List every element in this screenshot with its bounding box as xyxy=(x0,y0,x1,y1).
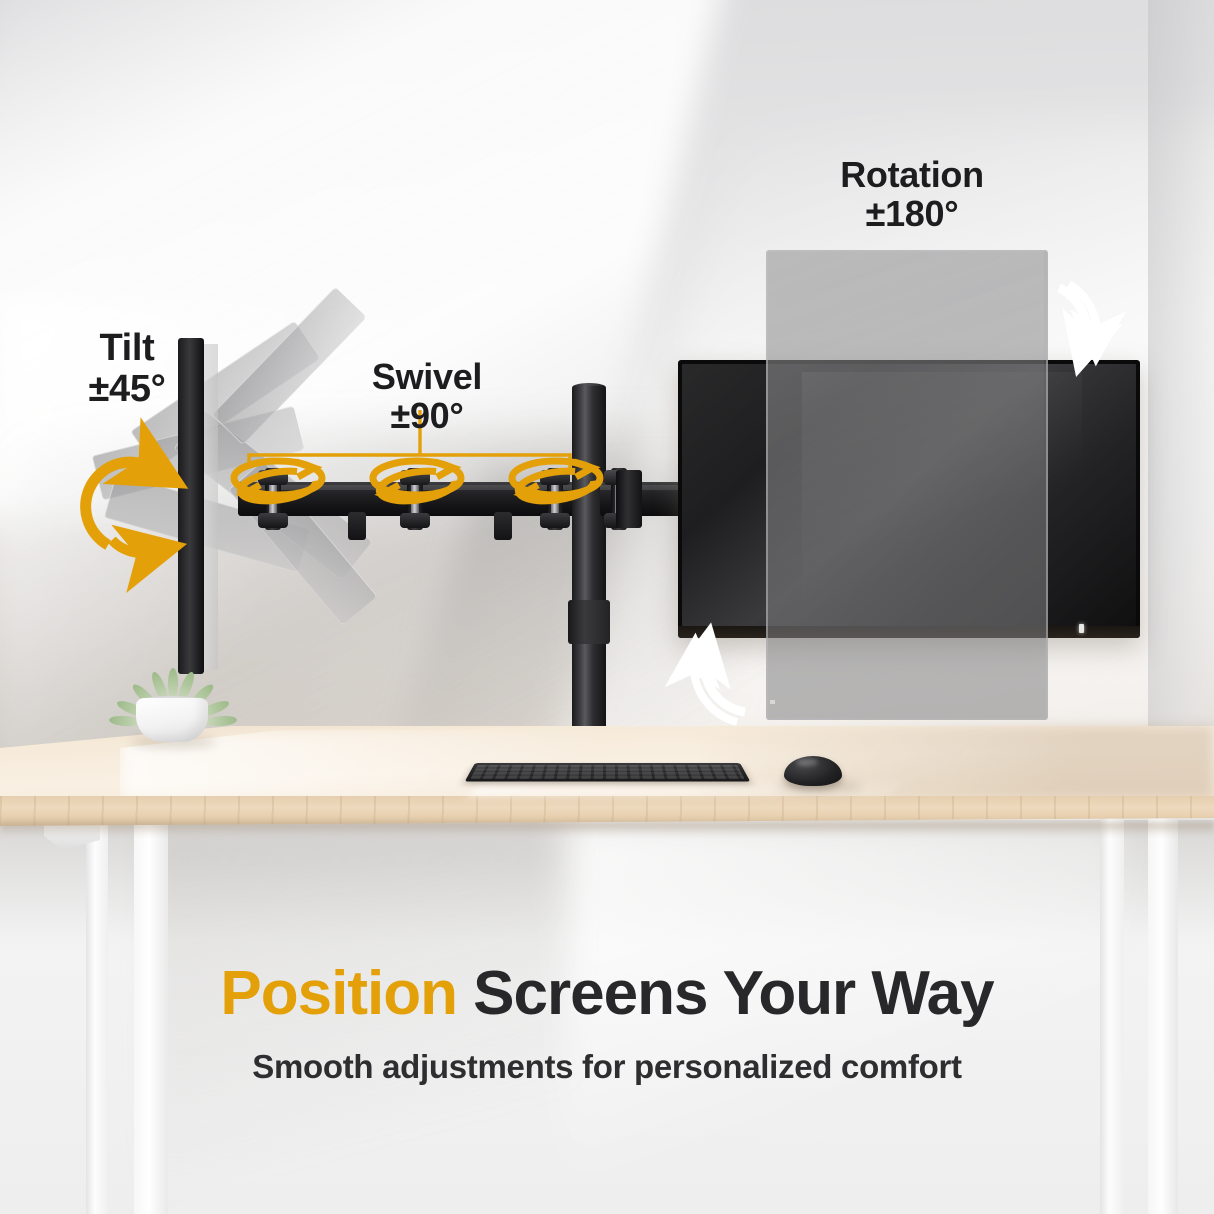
joint-bolt-bottom xyxy=(400,513,430,528)
desk xyxy=(0,726,1214,906)
potted-succulent xyxy=(120,664,224,744)
swivel-label: Swivel ±90° xyxy=(338,358,516,436)
headline-accent-word: Position xyxy=(220,959,457,1028)
headline: Position Screens Your Way xyxy=(0,958,1214,1029)
cable-clip-1 xyxy=(348,512,366,540)
joint-bolt-top xyxy=(540,470,570,485)
ghost-monitor-power-led xyxy=(770,700,775,704)
joint-bolt-top xyxy=(258,470,288,485)
ghost-monitor-sheen xyxy=(766,250,1044,716)
rotation-label: Rotation ±180° xyxy=(800,156,1024,234)
rotation-label-line2: ±180° xyxy=(800,195,1024,234)
product-feature-scene: Tilt ±45° Swivel ±90° Rotation ±180° Pos… xyxy=(0,0,1214,1214)
joint-bolt-bottom xyxy=(540,513,570,528)
keyboard xyxy=(465,763,751,781)
arm-joint-middle xyxy=(400,468,430,530)
mouse-highlight xyxy=(796,758,818,766)
arm-joint-right xyxy=(540,468,570,530)
vesa-mount-plate xyxy=(616,470,642,528)
tilt-label: Tilt ±45° xyxy=(52,328,202,410)
swivel-label-line2: ±90° xyxy=(338,397,516,436)
leaf xyxy=(168,668,178,698)
arm-joint-left xyxy=(258,468,288,530)
monitor-power-led xyxy=(1079,624,1084,633)
tilt-label-line2: ±45° xyxy=(52,369,202,410)
wall-corner-edge xyxy=(1148,0,1214,812)
pot xyxy=(136,698,208,742)
mount-pole xyxy=(572,386,606,738)
cable-clip-2 xyxy=(494,512,512,540)
tilt-label-line1: Tilt xyxy=(52,328,202,369)
subheadline: Smooth adjustments for personalized comf… xyxy=(0,1048,1214,1086)
joint-bolt-top xyxy=(400,470,430,485)
swivel-label-line1: Swivel xyxy=(338,358,516,397)
mount-pole-clamp xyxy=(568,600,610,644)
keyboard-keys xyxy=(470,765,744,779)
joint-bolt-bottom xyxy=(258,513,288,528)
headline-rest: Screens Your Way xyxy=(457,959,994,1028)
desk-underside-shadow xyxy=(0,822,1214,836)
rotation-label-line1: Rotation xyxy=(800,156,1024,195)
